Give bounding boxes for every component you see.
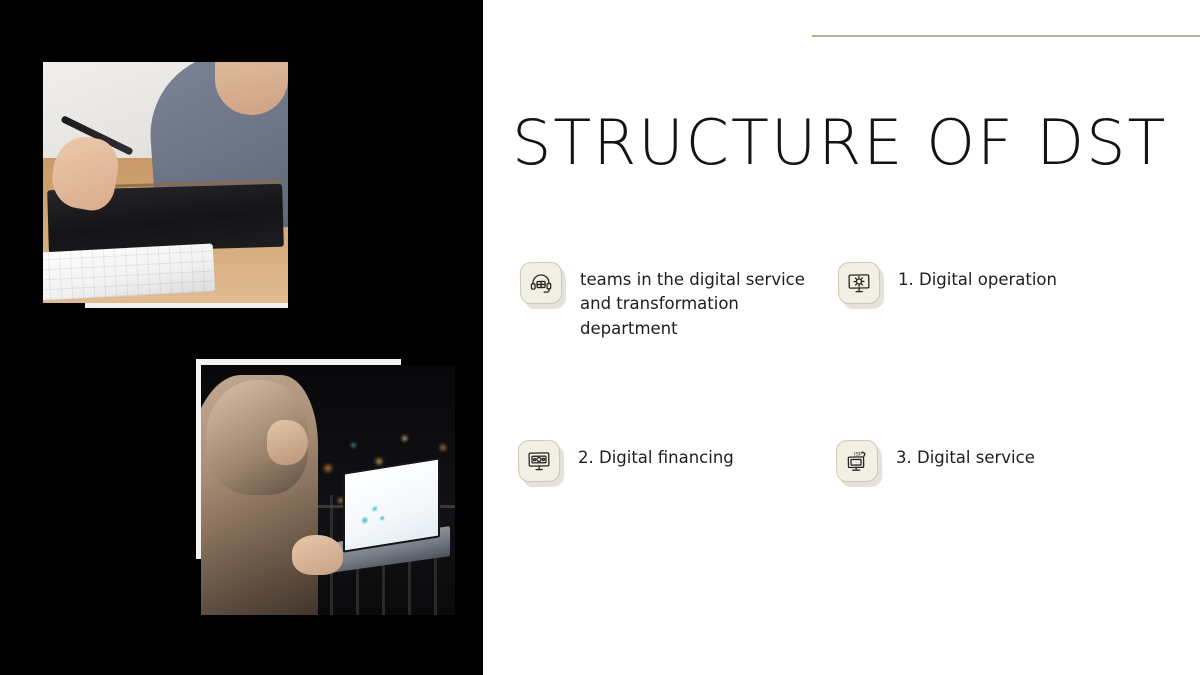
photo2-screen-graphic — [358, 493, 389, 531]
photo-person-using-drawing-tablet — [43, 62, 288, 303]
list-item-label: teams in the digital service and transfo… — [580, 262, 805, 341]
left-black-panel — [0, 0, 483, 675]
page-title: STRUCTURE OF DST — [512, 112, 1167, 174]
monitor-money-icon — [518, 440, 561, 483]
monitor-gear-icon — [838, 262, 881, 305]
photo2-face — [267, 420, 308, 465]
photo1-keyboard-keys — [43, 243, 216, 300]
list-item[interactable]: teams in the digital service and transfo… — [520, 262, 820, 341]
list-item[interactable]: 1. Digital operation — [838, 262, 1138, 304]
svg-text:ISP: ISP — [854, 451, 863, 457]
content-grid: teams in the digital service and transfo… — [512, 262, 1152, 542]
list-item[interactable]: 2. Digital financing — [518, 440, 818, 482]
photo-woman-with-laptop-at-night — [201, 365, 455, 615]
photo1-keyboard — [43, 243, 216, 300]
list-item-label: 3. Digital service — [896, 440, 1035, 470]
list-item-label: 1. Digital operation — [898, 262, 1057, 292]
photo2-hands — [292, 535, 343, 575]
list-item[interactable]: ISP 3. Digital service — [836, 440, 1136, 482]
photo2-laptop-screen — [343, 457, 440, 552]
accent-rule — [812, 35, 1200, 37]
list-item-label: 2. Digital financing — [578, 440, 734, 470]
monitor-isp-icon: ISP — [836, 440, 879, 483]
headset-support-icon — [520, 262, 563, 305]
